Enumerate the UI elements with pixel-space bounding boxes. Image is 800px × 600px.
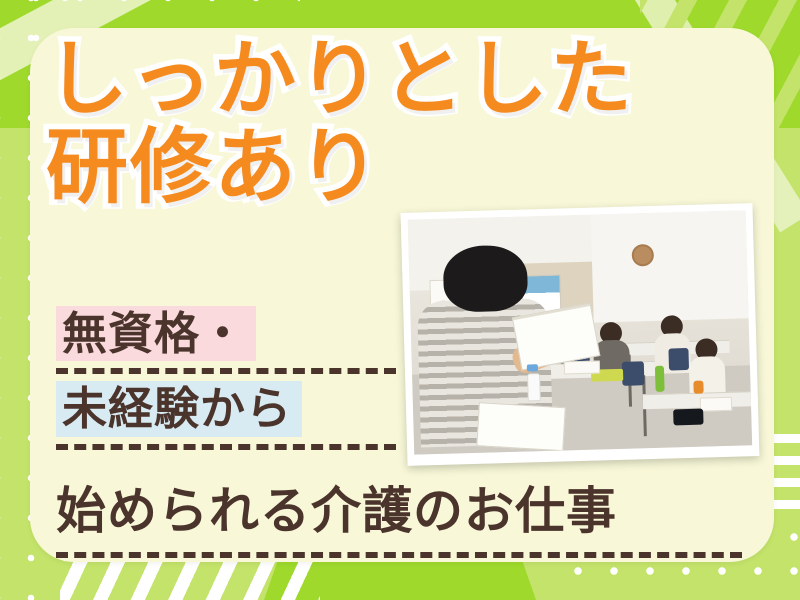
photo-bottle-green [655,365,665,391]
photo-instructor-head [442,245,528,313]
photo-wall-right [590,210,748,322]
photo-chair-2 [621,361,644,386]
tagline-pink: 無資格・ [56,306,256,361]
photo-chair-3 [668,348,689,371]
divider-dashed-3 [56,552,742,558]
divider-dashed-1 [56,368,396,374]
tagline-blue: 未経験から [56,381,302,436]
photo-sanitizer-bottle [527,374,541,402]
photo-bag [673,409,703,426]
photo-desk-paper-1 [564,360,600,374]
photo-floor-document [477,402,566,451]
bottom-tagline: 始められる介護のお仕事 [56,484,617,539]
photo-bottle-orange [693,381,703,394]
photo-desk-paper-2 [700,396,732,411]
wall-clock-icon [632,243,655,266]
tagline-block: 無資格・ 未経験から [56,306,456,457]
photo-sanitizer-cap [527,364,538,371]
training-photo [408,210,752,454]
divider-dashed-2 [56,444,396,450]
poster-canvas: しっかりとした 研修あり [0,0,800,600]
